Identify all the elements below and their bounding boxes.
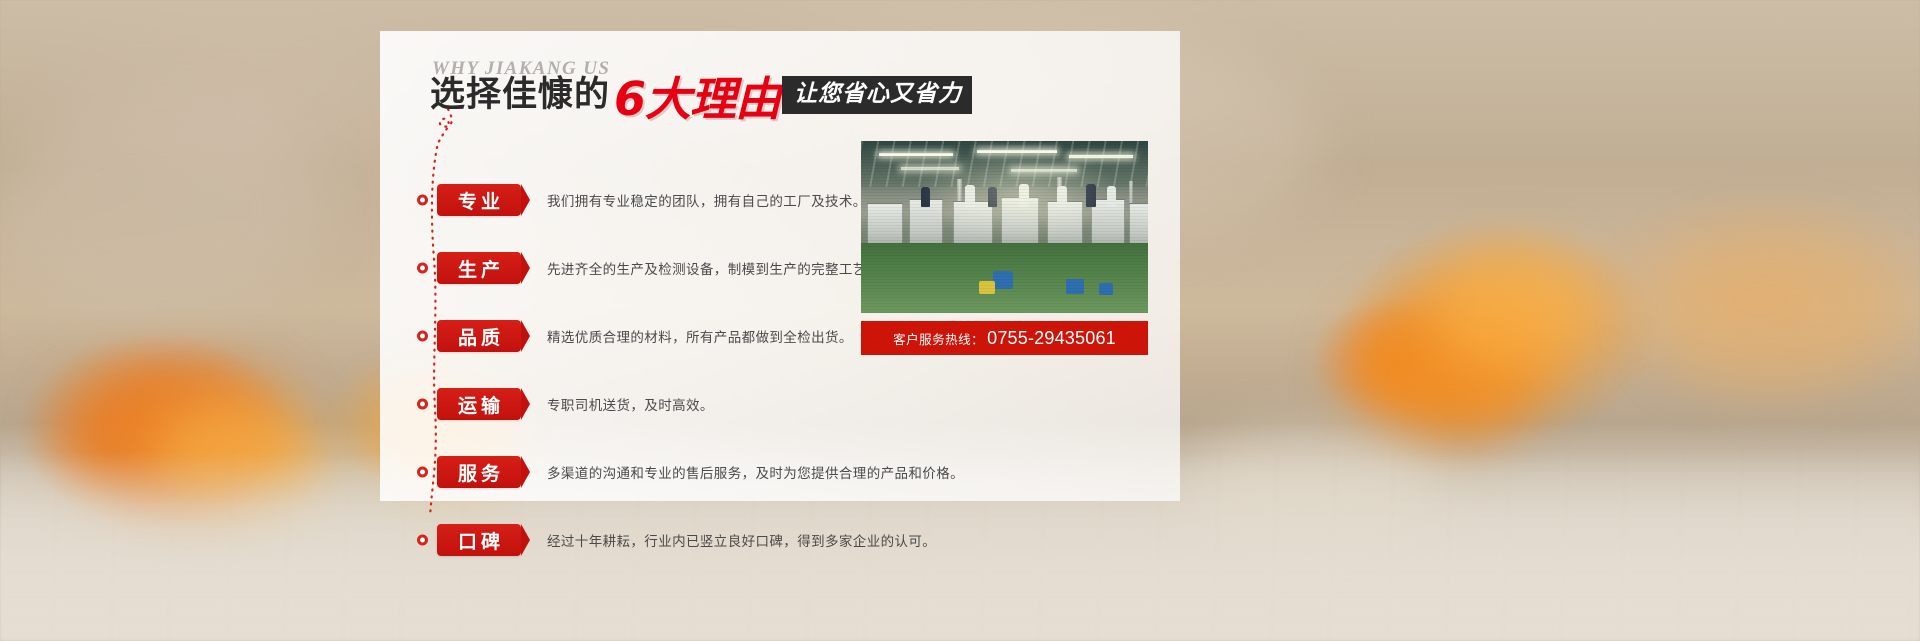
heading-highlight: 6大理由 bbox=[614, 79, 780, 119]
feature-description: 我们拥有专业稳定的团队，拥有自己的工厂及技术。 bbox=[547, 190, 867, 210]
list-item[interactable]: 口碑 经过十年耕耘，行业内已竖立良好口碑，得到多家企业的认可。 bbox=[437, 506, 1137, 574]
hotline-bar[interactable]: 客户服务热线： 0755-29435061 bbox=[861, 321, 1148, 355]
feature-tag: 品质 bbox=[437, 320, 521, 352]
feature-tag: 服务 bbox=[437, 456, 521, 488]
bullet-dot-icon bbox=[417, 263, 428, 274]
bullet-dot-icon bbox=[417, 399, 428, 410]
bullet-dot-icon bbox=[417, 467, 428, 478]
feature-description: 精选优质合理的材料，所有产品都做到全检出货。 bbox=[547, 326, 853, 346]
bullet-dot-icon bbox=[417, 195, 428, 206]
list-item[interactable]: 运输 专职司机送货，及时高效。 bbox=[437, 370, 1137, 438]
bullet-dot-icon bbox=[417, 535, 428, 546]
feature-description: 先进齐全的生产及检测设备，制模到生产的完整工艺。 bbox=[547, 258, 881, 278]
feature-description: 经过十年耕耘，行业内已竖立良好口碑，得到多家企业的认可。 bbox=[547, 530, 936, 550]
feature-tag: 运输 bbox=[437, 388, 521, 420]
feature-tag: 专业 bbox=[437, 184, 521, 216]
feature-tag: 生产 bbox=[437, 252, 521, 284]
feature-description: 专职司机送货，及时高效。 bbox=[547, 394, 714, 414]
promo-card: WHY JIAKANG US 选择佳慷的 6大理由 让您省心又省力 专业 我们拥… bbox=[380, 31, 1180, 501]
heading-tagline: 让您省心又省力 bbox=[782, 76, 972, 114]
factory-photo bbox=[861, 141, 1148, 313]
hotline-label: 客户服务热线： bbox=[893, 329, 984, 348]
feature-tag: 口碑 bbox=[437, 524, 521, 556]
list-item[interactable]: 服务 多渠道的沟通和专业的售后服务，及时为您提供合理的产品和价格。 bbox=[437, 438, 1137, 506]
hotline-number[interactable]: 0755-29435061 bbox=[987, 328, 1116, 349]
feature-description: 多渠道的沟通和专业的售后服务，及时为您提供合理的产品和价格。 bbox=[547, 462, 964, 482]
bullet-dot-icon bbox=[417, 331, 428, 342]
